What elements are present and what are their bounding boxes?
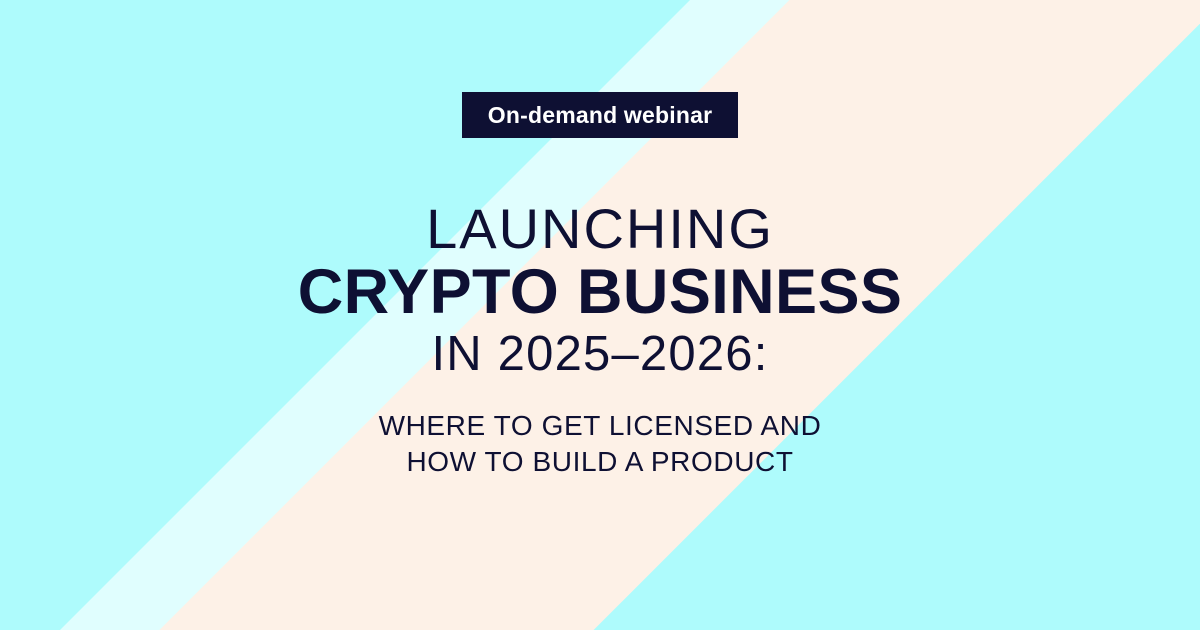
subtitle-line-2: HOW TO BUILD A PRODUCT: [379, 444, 822, 480]
title-line-years: IN 2025–2026:: [431, 329, 768, 380]
badge-label: On-demand webinar: [488, 102, 712, 129]
page-title: LAUNCHING CRYPTO BUSINESS IN 2025–2026:: [298, 200, 903, 380]
webinar-banner: On-demand webinar LAUNCHING CRYPTO BUSIN…: [0, 0, 1200, 630]
page-subtitle: WHERE TO GET LICENSED AND HOW TO BUILD A…: [379, 408, 822, 480]
subtitle-line-1: WHERE TO GET LICENSED AND: [379, 408, 822, 444]
title-line-launching: LAUNCHING: [426, 200, 774, 257]
badge-on-demand-webinar: On-demand webinar: [462, 92, 738, 138]
banner-content: On-demand webinar LAUNCHING CRYPTO BUSIN…: [0, 0, 1200, 630]
title-line-crypto-business: CRYPTO BUSINESS: [298, 259, 903, 325]
